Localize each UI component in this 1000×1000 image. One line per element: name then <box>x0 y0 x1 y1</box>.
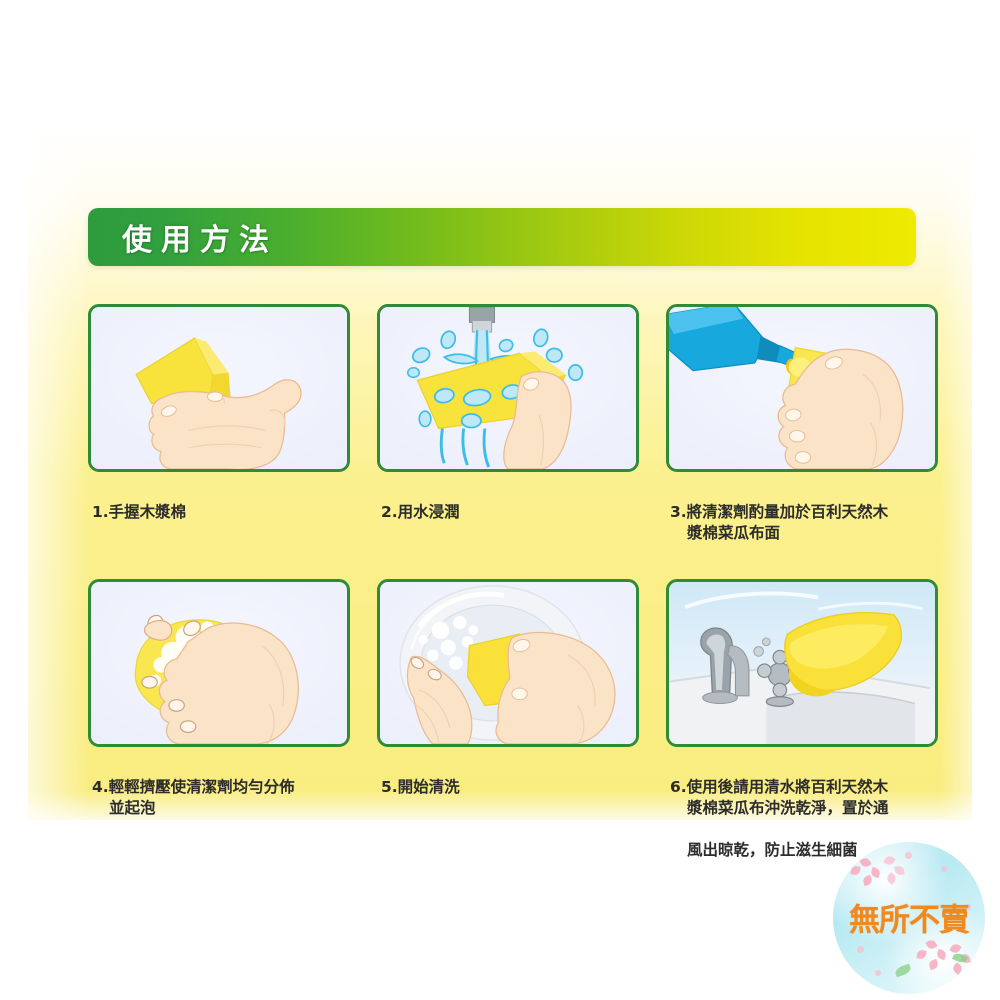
steps-grid: 1.手握木漿棉 <box>88 304 928 882</box>
step-item-6: 6.使用後請用清水將百利天然木 漿棉菜瓜布沖洗乾淨，置於通 風出晾乾，防止滋生細… <box>666 579 938 882</box>
leaf-decoration-1 <box>894 964 912 978</box>
step-caption-1: 1.手握木漿棉 <box>88 481 350 523</box>
step-caption-3: 3.將清潔劑酌量加於百利天然木 漿棉菜瓜布面 <box>666 481 938 565</box>
step-illustration-2 <box>377 304 639 472</box>
washing-plate-with-sponge-icon <box>380 582 636 744</box>
watermark-logo: 無所不賣 <box>833 842 985 994</box>
background-fade-right <box>940 120 1000 820</box>
step-caption-line-3-1: 3.將清潔劑酌量加於百利天然木 <box>670 503 888 521</box>
step-caption-line-4-2: 並起泡 <box>92 798 350 819</box>
usage-instructions-graphic: 使用方法 <box>0 0 1000 1000</box>
step-item-5: 5.開始清洗 <box>377 579 639 882</box>
step-item-4: 4.輕輕擠壓使清潔劑均勻分佈 並起泡 <box>88 579 350 882</box>
sponge-under-running-water-icon <box>380 307 636 469</box>
step-illustration-1 <box>88 304 350 472</box>
step-caption-line-6-2: 漿棉菜瓜布沖洗乾淨，置於通 <box>670 798 938 819</box>
watermark-text: 無所不賣 <box>833 895 985 940</box>
step-item-3: 3.將清潔劑酌量加於百利天然木 漿棉菜瓜布面 <box>666 304 938 565</box>
petal-dot-2 <box>941 866 947 872</box>
step-illustration-6 <box>666 579 938 747</box>
petal-dot-4 <box>875 970 881 976</box>
step-caption-2: 2.用水浸潤 <box>377 481 639 523</box>
step-item-2: 2.用水浸潤 <box>377 304 639 565</box>
step-caption-line-3-2: 漿棉菜瓜布面 <box>670 523 938 544</box>
blossom-cluster-bottom-right <box>911 938 977 992</box>
step-caption-line-5-1: 5.開始清洗 <box>381 778 460 796</box>
step-illustration-5 <box>377 579 639 747</box>
step-item-1: 1.手握木漿棉 <box>88 304 350 565</box>
step-illustration-3 <box>666 304 938 472</box>
hand-squeezing-foamy-sponge-icon <box>91 582 347 744</box>
step-illustration-4 <box>88 579 350 747</box>
detergent-bottle-on-sponge-icon <box>669 307 935 469</box>
step-caption-line-6-1: 6.使用後請用清水將百利天然木 <box>670 778 888 796</box>
step-caption-5: 5.開始清洗 <box>377 756 639 798</box>
petal-dot-3 <box>857 946 864 953</box>
step-caption-4: 4.輕輕擠壓使清潔劑均勻分佈 並起泡 <box>88 756 350 840</box>
title-banner-gradient: 使用方法 <box>88 208 916 266</box>
page-title: 使用方法 <box>122 215 278 259</box>
step-caption-line-1-1: 1.手握木漿棉 <box>92 503 186 521</box>
step-caption-line-2-1: 2.用水浸潤 <box>381 503 460 521</box>
sponge-drying-on-sink-icon <box>669 582 935 744</box>
petal-dot-1 <box>905 852 912 859</box>
hand-holding-sponge-icon <box>91 307 347 469</box>
title-banner: 使用方法 <box>88 208 916 266</box>
step-caption-line-4-1: 4.輕輕擠壓使清潔劑均勻分佈 <box>92 778 295 796</box>
background-fade-left <box>0 120 90 820</box>
